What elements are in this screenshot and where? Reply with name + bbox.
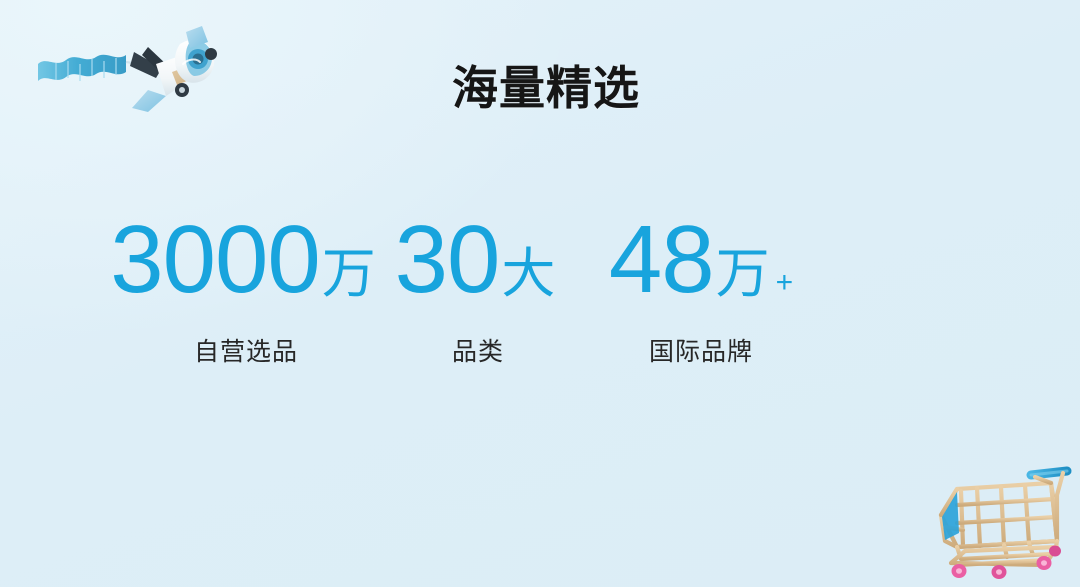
stat-value: 48 万 +	[609, 212, 793, 308]
stat-unit: 万	[716, 247, 770, 301]
stat-value: 30 大	[395, 212, 562, 308]
stat-number: 48	[609, 212, 714, 308]
stats-row: 3000 万 自营选品 30 大 品类 48 万 + 国际品牌	[112, 212, 942, 372]
stat-label: 品类	[452, 332, 504, 368]
stat-label: 国际品牌	[649, 332, 753, 368]
stat-item: 3000 万 自营选品	[112, 212, 380, 368]
stat-number: 30	[395, 212, 500, 308]
stat-label: 自营选品	[194, 332, 298, 368]
stat-unit: 万	[322, 247, 376, 301]
airplane-with-banner-icon	[30, 12, 220, 124]
stat-item: 30 大 品类	[380, 212, 576, 368]
stat-item: 48 万 + 国际品牌	[576, 212, 826, 368]
slide-root: 海量精选 3000 万 自营选品 30 大 品类 48 万 +	[0, 0, 1080, 587]
stat-value: 3000 万	[110, 212, 382, 308]
page-title: 海量精选	[452, 62, 640, 115]
shopping-cart-icon	[905, 455, 1077, 585]
stat-plus: +	[776, 268, 794, 298]
stat-number: 3000	[110, 212, 320, 308]
stat-unit: 大	[501, 247, 555, 301]
